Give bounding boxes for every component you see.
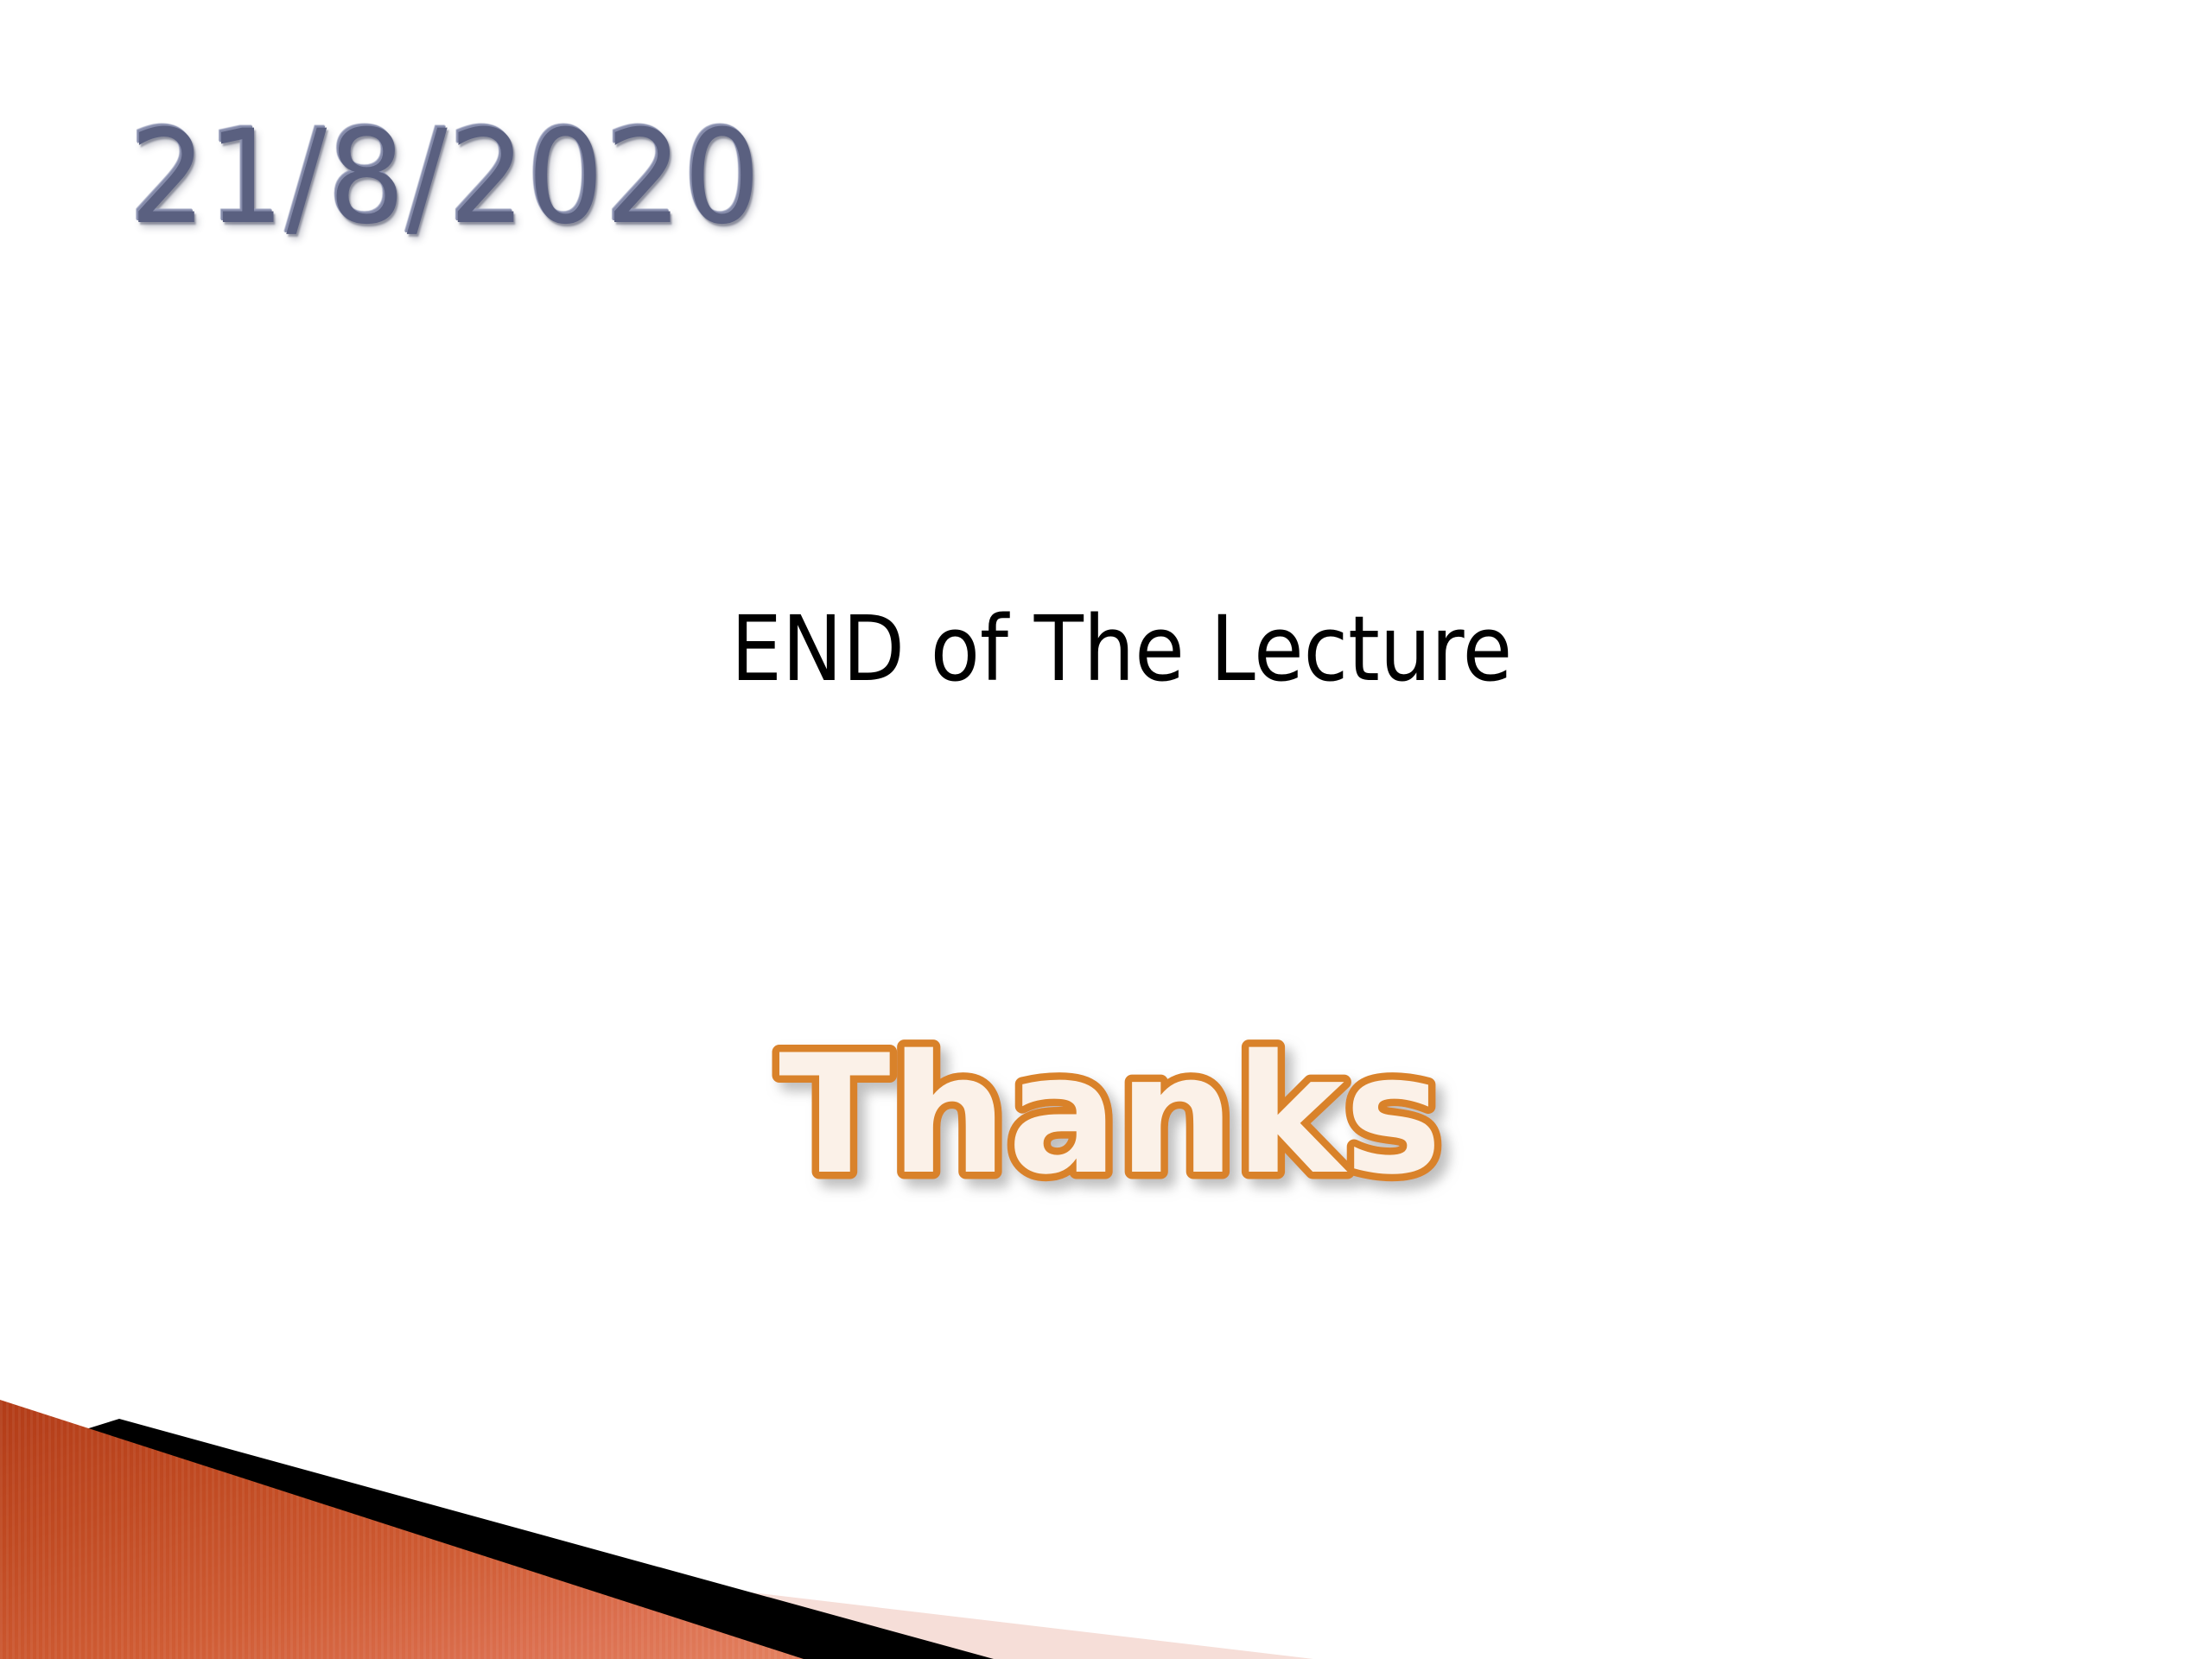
deco-orange-texture: [0, 1400, 804, 1659]
thanks-wordart-fill: Thanks: [779, 1020, 1442, 1211]
slide-canvas: 21/8/2020 END of The Lecture Thanks Than…: [0, 0, 2212, 1659]
thanks-wordart-graphic: Thanks Thanks: [739, 1018, 1482, 1225]
slide-date: 21/8/2020: [130, 102, 762, 255]
slide-body-text: END of The Lecture: [111, 596, 2101, 702]
deco-black-stripe: [0, 1419, 994, 1659]
deco-orange-triangle: [0, 1400, 804, 1659]
thanks-wordart: Thanks Thanks: [0, 1018, 2212, 1230]
thanks-wordart-outline: Thanks: [779, 1020, 1442, 1211]
slide-body-text-label: END of The Lecture: [731, 596, 1512, 702]
deco-pink-triangle: [0, 1503, 1313, 1659]
corner-decoration: [0, 1374, 1382, 1659]
